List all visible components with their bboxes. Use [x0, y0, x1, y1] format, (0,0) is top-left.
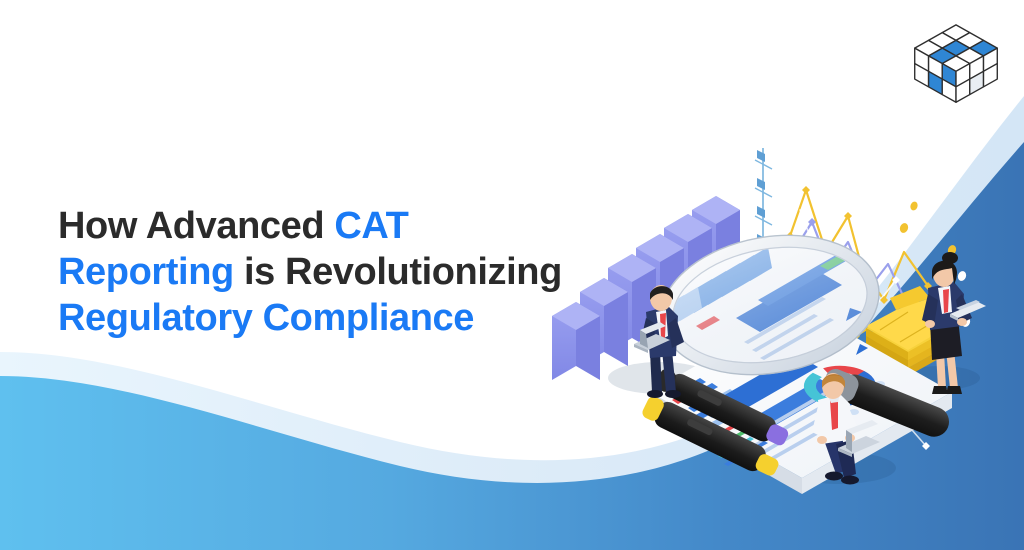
hero-banner: How Advanced CAT Reporting is Revolution…: [0, 0, 1024, 550]
headline-line-3: Regulatory Compliance: [58, 295, 658, 341]
headline-line-2: Reporting is Revolutionizing: [58, 249, 658, 295]
headline-text-accent-1: CAT: [334, 205, 408, 247]
headline-text-dark-1: How Advanced: [58, 205, 334, 247]
headline-text-dark-2: is Revolutionizing: [234, 251, 562, 293]
rubiks-cube-logo[interactable]: [913, 18, 999, 104]
headline-text-accent-2: Reporting: [58, 251, 234, 293]
page-title: How Advanced CAT Reporting is Revolution…: [58, 203, 658, 341]
headline-line-1: How Advanced CAT: [58, 203, 658, 249]
